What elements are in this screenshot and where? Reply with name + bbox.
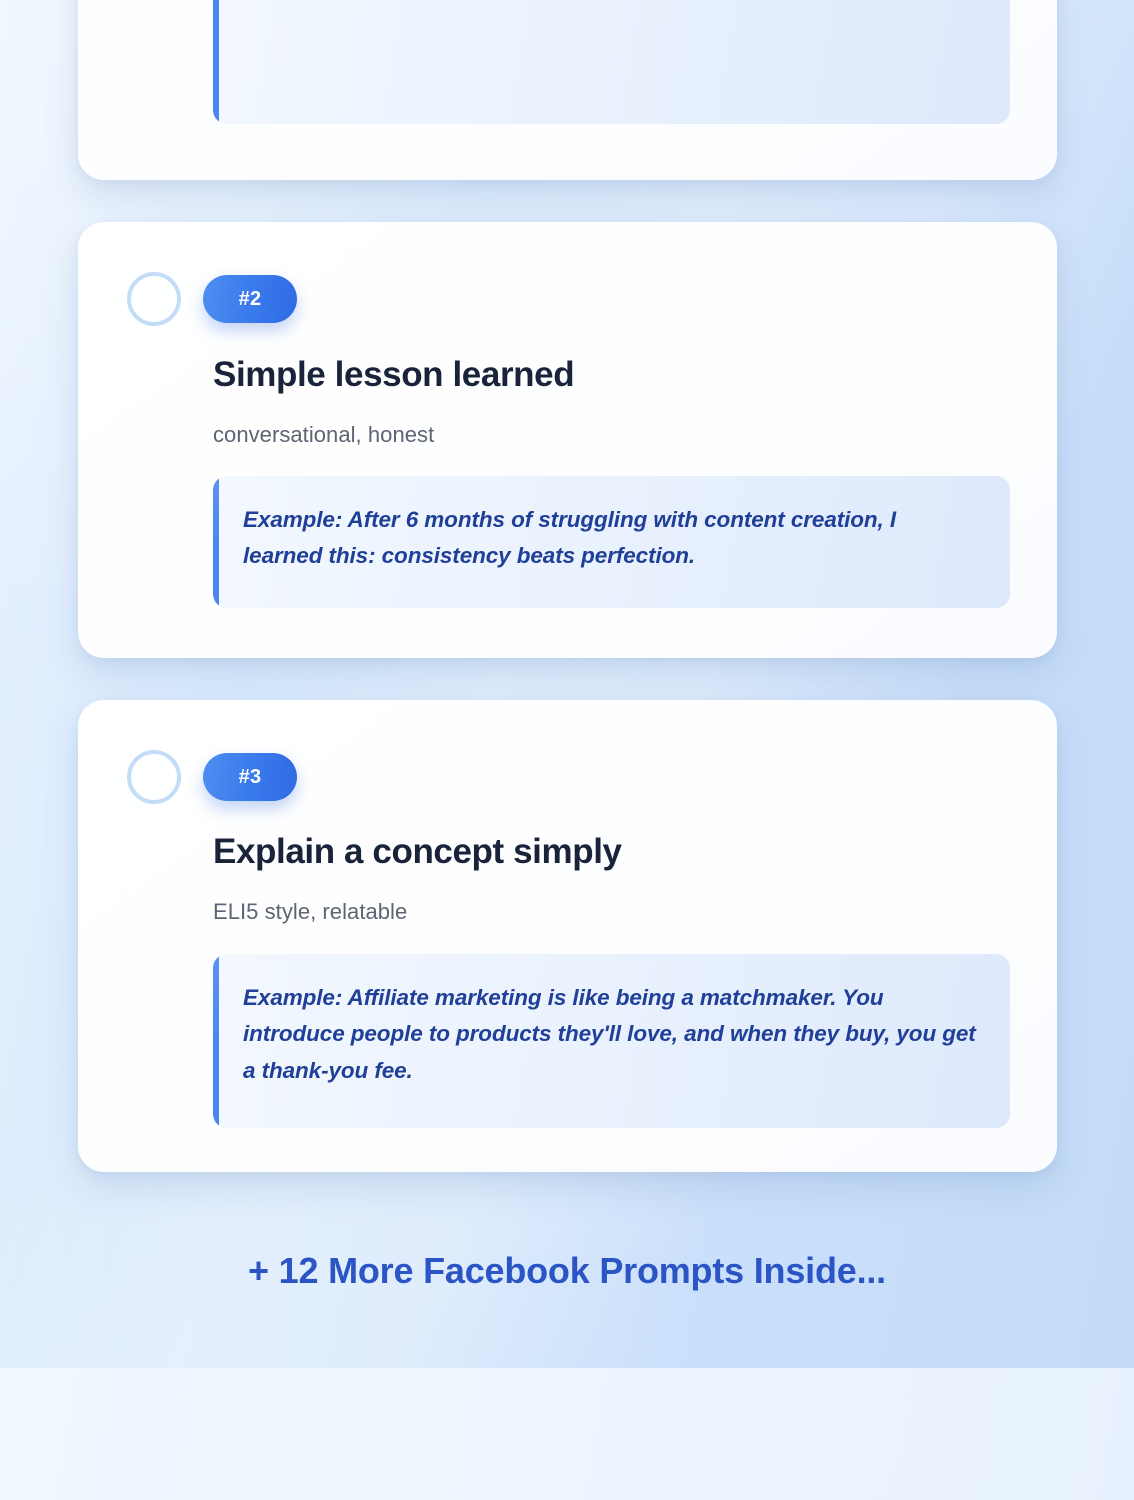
- example-text-2: Example: After 6 months of struggling wi…: [243, 502, 976, 575]
- example-box-1: Example: The #1 mistake I made when star…: [213, 0, 1010, 124]
- prompt-card-2-header: #2: [127, 272, 297, 326]
- example-text-3: Example: Affiliate marketing is like bei…: [243, 980, 976, 1089]
- prompt-subtitle-2: conversational, honest: [213, 422, 434, 448]
- example-box-2: Example: After 6 months of struggling wi…: [213, 476, 1010, 608]
- example-text-1: Example: The #1 mistake I made when star…: [243, 0, 976, 5]
- prompt-card-3-header: #3: [127, 750, 297, 804]
- rank-badge-2: #2: [203, 275, 297, 323]
- prompt-title-3: Explain a concept simply: [213, 832, 622, 872]
- prompt-subtitle-3: ELI5 style, relatable: [213, 899, 407, 925]
- rank-badge-3: #3: [203, 753, 297, 801]
- example-box-3: Example: Affiliate marketing is like bei…: [213, 954, 1010, 1128]
- prompt-title-2: Simple lesson learned: [213, 355, 574, 395]
- checkbox-circle-icon-2[interactable]: [127, 272, 181, 326]
- more-prompts-label[interactable]: + 12 More Facebook Prompts Inside...: [0, 1250, 1134, 1292]
- checkbox-circle-icon-3[interactable]: [127, 750, 181, 804]
- prompt-list: Example: The #1 mistake I made when star…: [0, 0, 1134, 1500]
